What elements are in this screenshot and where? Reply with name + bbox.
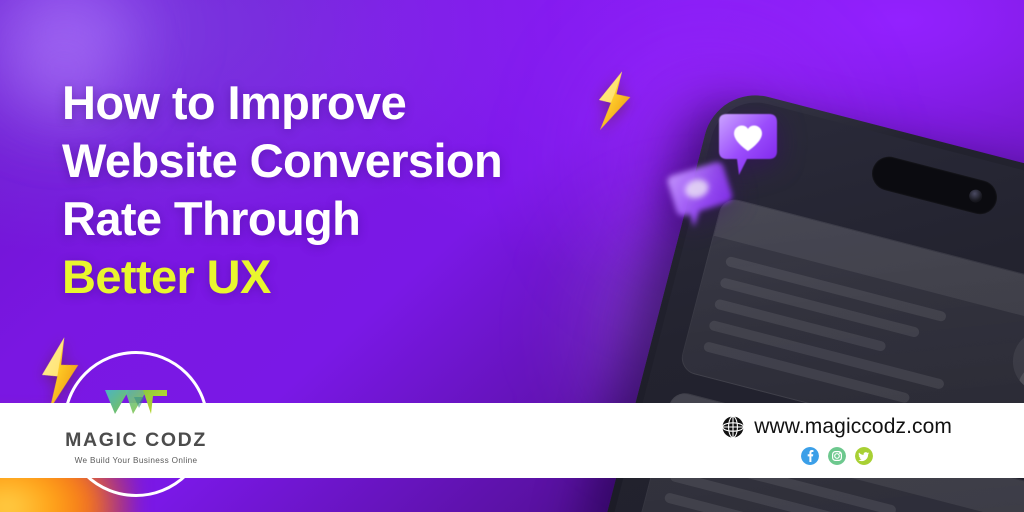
- instagram-icon[interactable]: [828, 447, 846, 465]
- logo-tagline: We Build Your Business Online: [75, 456, 198, 465]
- globe-icon: [722, 416, 744, 438]
- headline-line-2: Website Conversion: [62, 132, 502, 190]
- logo: MAGIC CODZ We Build Your Business Online: [63, 351, 209, 497]
- headline-line-1: How to Improve: [62, 74, 502, 132]
- lightning-bolt-icon: [590, 69, 638, 134]
- social-links: [722, 447, 952, 465]
- dynamic-island: [868, 153, 1000, 218]
- contact-block: www.magiccodz.com: [722, 415, 952, 465]
- headline-accent-line: Better UX: [62, 248, 502, 306]
- twitter-icon[interactable]: [855, 447, 873, 465]
- website-url: www.magiccodz.com: [754, 415, 952, 439]
- website-row[interactable]: www.magiccodz.com: [722, 415, 952, 439]
- marketing-banner: How to Improve Website Conversion Rate T…: [0, 0, 1024, 512]
- person-avatar-icon: [1006, 324, 1024, 400]
- page-title: How to Improve Website Conversion Rate T…: [62, 74, 502, 306]
- logo-name: MAGIC CODZ: [65, 429, 207, 452]
- magic-codz-logo-mark-icon: [103, 384, 169, 422]
- headline-line-3: Rate Through: [62, 190, 502, 248]
- facebook-icon[interactable]: [801, 447, 819, 465]
